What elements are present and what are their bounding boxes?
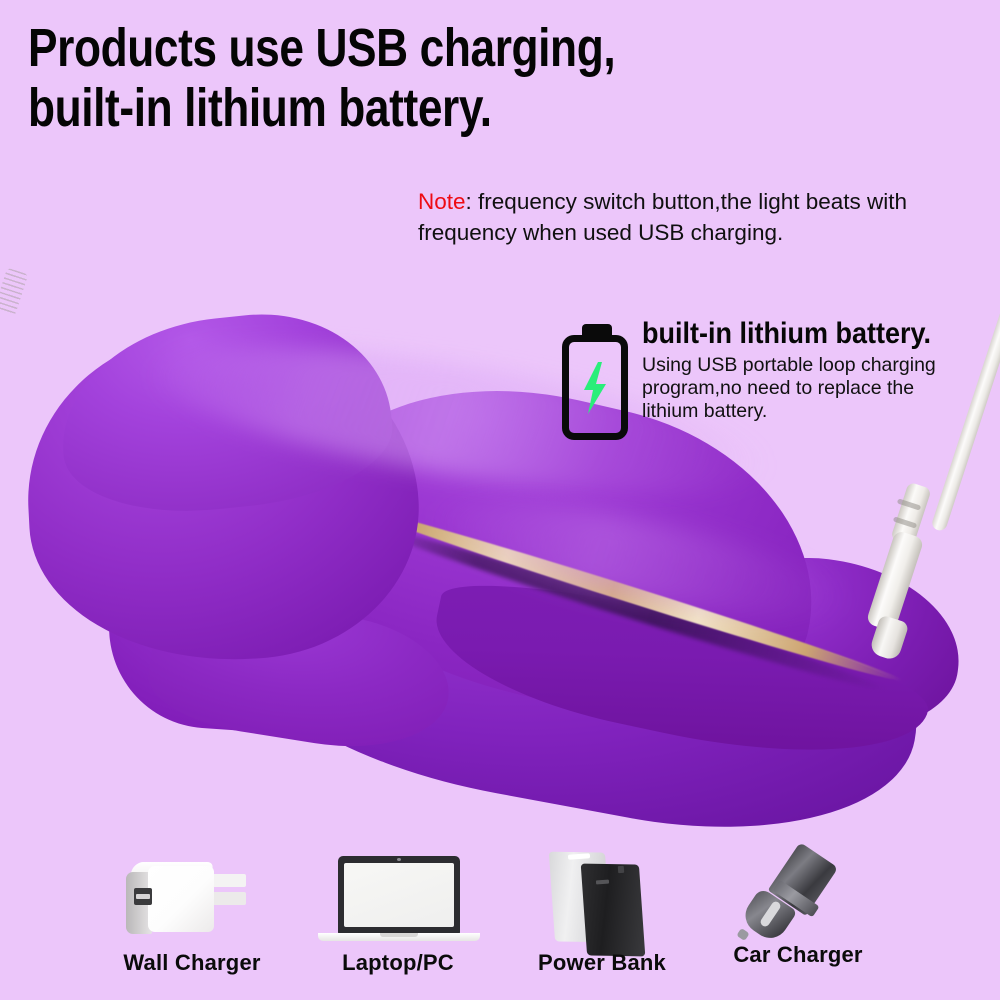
accessory-label: Car Charger	[688, 942, 908, 968]
note-label: Note	[418, 189, 466, 214]
power-bank-black	[581, 864, 646, 957]
laptop-screen	[344, 863, 454, 927]
battery-charging-icon	[560, 324, 632, 444]
note-separator: :	[466, 189, 479, 214]
power-bank-icon	[492, 838, 712, 950]
wall-charger-front-face	[148, 866, 214, 932]
car-charger-icon	[688, 838, 908, 950]
laptop-base-notch	[380, 933, 418, 937]
wall-charger-prong	[212, 892, 246, 905]
accessory-label: Wall Charger	[82, 950, 302, 976]
note-line-1-text: frequency switch button,the light beats …	[478, 189, 907, 214]
note-line-2: frequency when used USB charging.	[418, 217, 1000, 248]
lightning-bolt-icon	[582, 362, 608, 414]
accessory-wall-charger: Wall Charger	[82, 838, 302, 1000]
accessory-label: Laptop/PC	[288, 950, 508, 976]
product-marketing-image: Products use USB charging, built-in lith…	[0, 0, 1000, 1000]
power-bank-black-edge	[618, 866, 624, 873]
battery-description: Using USB portable loop charging program…	[642, 354, 1000, 423]
cable-barrel	[866, 530, 925, 632]
accessory-laptop: Laptop/PC	[288, 838, 508, 1000]
battery-text-block: built-in lithium battery. Using USB port…	[642, 318, 1000, 423]
headline-line-1: Products use USB charging,	[28, 18, 799, 78]
cable-grip-texture	[0, 268, 28, 317]
accessory-label: Power Bank	[492, 950, 712, 976]
wall-charger-icon	[82, 838, 302, 950]
laptop-camera	[397, 858, 401, 861]
battery-title: built-in lithium battery.	[642, 318, 966, 350]
usb-port-insert	[136, 894, 150, 899]
note-line-1: Note: frequency switch button,the light …	[418, 186, 1000, 217]
laptop-icon	[288, 838, 508, 950]
compatible-accessories-row: Wall Charger Laptop/PC Power Bank	[0, 838, 1000, 1000]
car-charger-contact-tip	[736, 928, 749, 941]
headline-line-2: built-in lithium battery.	[28, 78, 799, 138]
note-block: Note: frequency switch button,the light …	[418, 186, 1000, 248]
accessory-car-charger: Car Charger	[688, 838, 908, 1000]
wall-charger-prong	[212, 874, 246, 887]
page-title: Products use USB charging, built-in lith…	[28, 18, 799, 138]
accessory-power-bank: Power Bank	[492, 838, 712, 1000]
